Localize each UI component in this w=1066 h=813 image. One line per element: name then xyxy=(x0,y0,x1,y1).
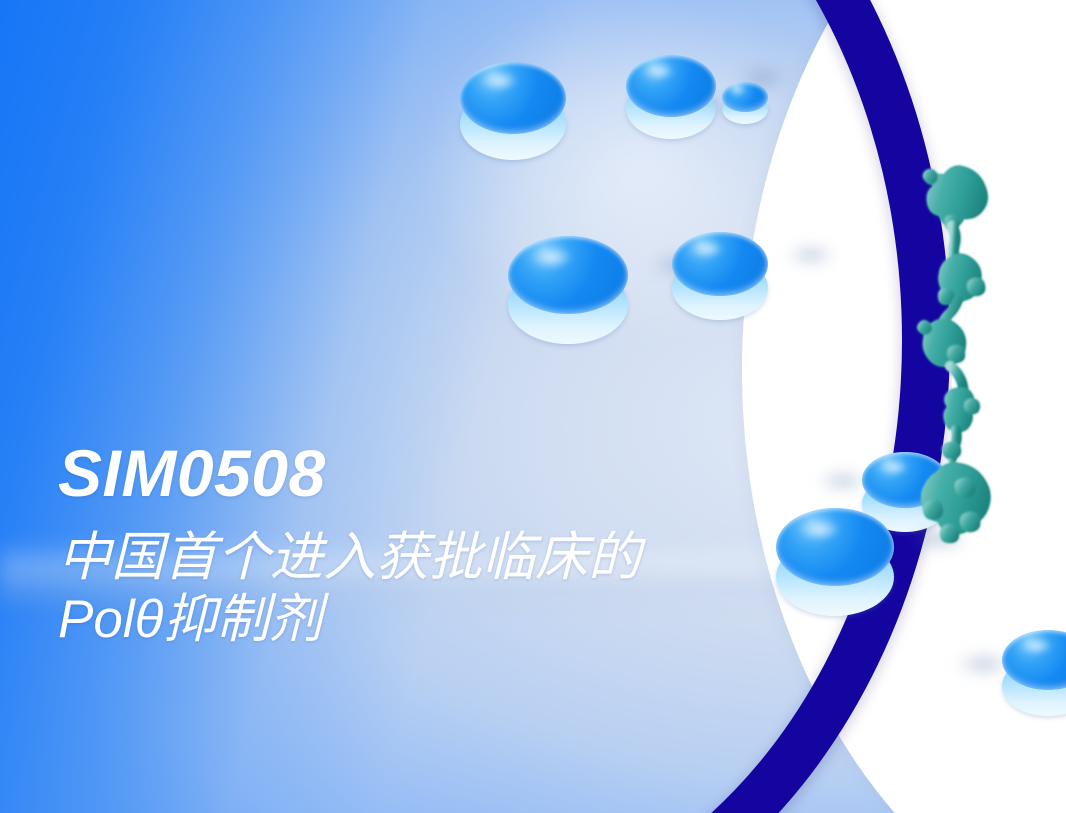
tablet-1 xyxy=(460,62,566,160)
subtitle-line-1: 中国首个进入获批临床的 xyxy=(58,525,858,591)
tablet-highlight xyxy=(1017,636,1056,656)
protein-ribbon-structure xyxy=(900,160,1030,570)
tablet-8 xyxy=(722,82,768,124)
tablet-highlight xyxy=(477,69,522,93)
tablet-4 xyxy=(672,232,768,320)
tablet-highlight xyxy=(729,85,748,95)
tablet-shadow xyxy=(776,240,846,270)
page-title: SIM0508 xyxy=(58,437,858,509)
tablet-highlight xyxy=(687,238,727,260)
tablet-7 xyxy=(1002,630,1066,716)
tablet-3 xyxy=(508,236,628,344)
poster-text-block: SIM0508 中国首个进入获批临床的 Polθ抑制剂 xyxy=(58,437,858,653)
tablet-highlight xyxy=(640,61,678,82)
subtitle-line-2: Polθ抑制剂 xyxy=(58,587,858,653)
tablet-highlight xyxy=(527,244,577,271)
tablet-2 xyxy=(626,55,716,139)
poster-canvas: SIM0508 中国首个进入获批临床的 Polθ抑制剂 xyxy=(0,0,1066,813)
